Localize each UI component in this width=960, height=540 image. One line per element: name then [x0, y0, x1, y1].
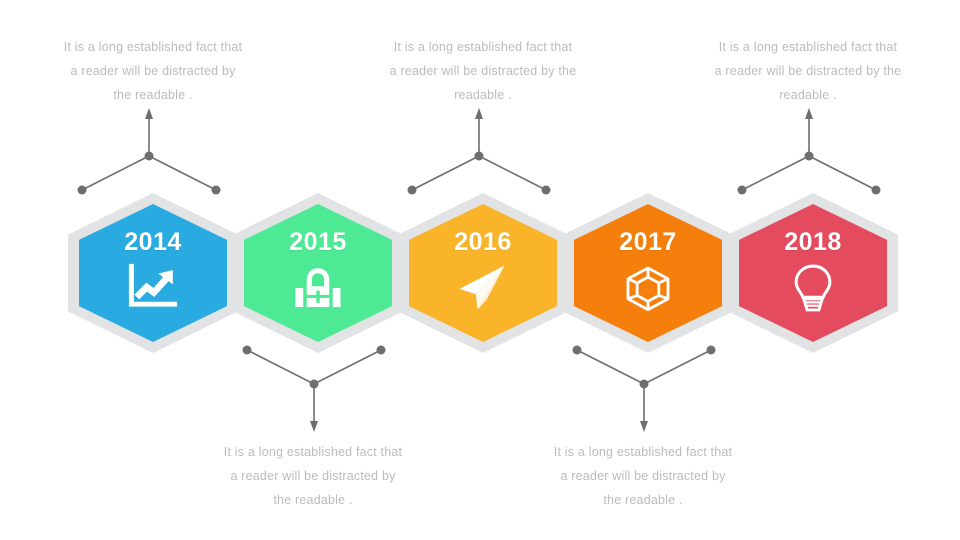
- callout-text-2018: It is a long established fact that a rea…: [683, 35, 933, 107]
- briefcase-lock-icon: [287, 259, 349, 317]
- milestone-hexagon-2018[interactable]: 2018: [728, 193, 898, 353]
- growth-chart-icon: [122, 259, 184, 317]
- hexagon-year-label: 2017: [619, 230, 677, 255]
- hexagon-year-label: 2014: [124, 230, 182, 255]
- wireframe-cube-icon: [617, 259, 679, 317]
- connector-2018: [730, 105, 900, 200]
- connector-2014: [70, 105, 240, 200]
- hexagon-year-label: 2015: [289, 230, 347, 255]
- connector-2017: [565, 340, 735, 435]
- hexagon-year-label: 2016: [454, 230, 512, 255]
- callout-text-2016: It is a long established fact that a rea…: [358, 35, 608, 107]
- milestone-hexagon-2017[interactable]: 2017: [563, 193, 733, 353]
- hexagon-year-label: 2018: [784, 230, 842, 255]
- milestone-hexagon-2015[interactable]: 2015: [233, 193, 403, 353]
- connector-2015: [235, 340, 405, 435]
- milestone-hexagon-2016[interactable]: 2016: [398, 193, 568, 353]
- lightbulb-icon: [782, 259, 844, 317]
- milestone-hexagon-2014[interactable]: 2014: [68, 193, 238, 353]
- paper-plane-icon: [452, 259, 514, 317]
- infographic-canvas: It is a long established fact that a rea…: [0, 0, 960, 540]
- callout-text-2017: It is a long established fact that a rea…: [518, 440, 768, 512]
- connector-2016: [400, 105, 570, 200]
- callout-text-2015: It is a long established fact that a rea…: [188, 440, 438, 512]
- callout-text-2014: It is a long established fact that a rea…: [28, 35, 278, 107]
